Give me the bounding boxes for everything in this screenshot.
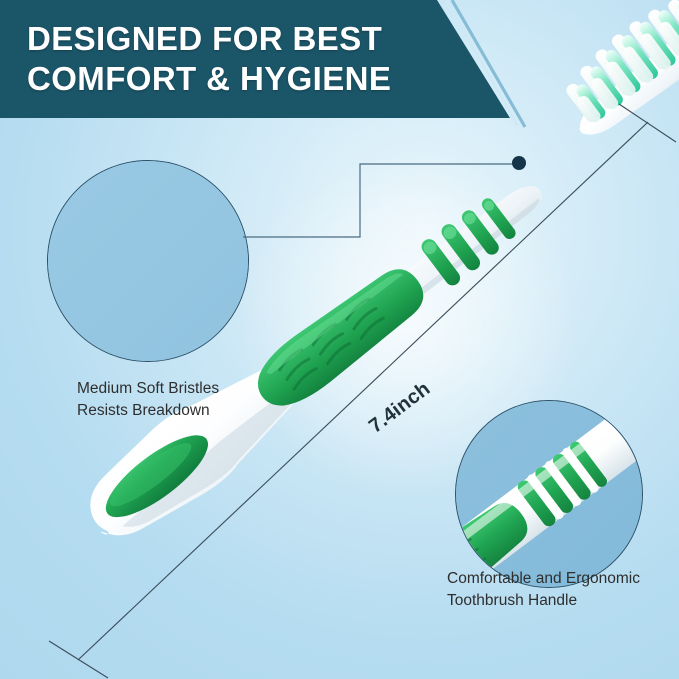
infographic-canvas: DESIGNED FOR BEST COMFORT & HYGIENE: [0, 0, 679, 679]
callout-label-handle: Comfortable and Ergonomic Toothbrush Han…: [447, 568, 640, 612]
callout-circle-handle: [455, 400, 643, 588]
callout-handle-art: [455, 400, 643, 588]
callout-label-bristles: Medium Soft Bristles Resists Breakdown: [77, 378, 219, 422]
page-title: DESIGNED FOR BEST COMFORT & HYGIENE: [27, 19, 391, 99]
